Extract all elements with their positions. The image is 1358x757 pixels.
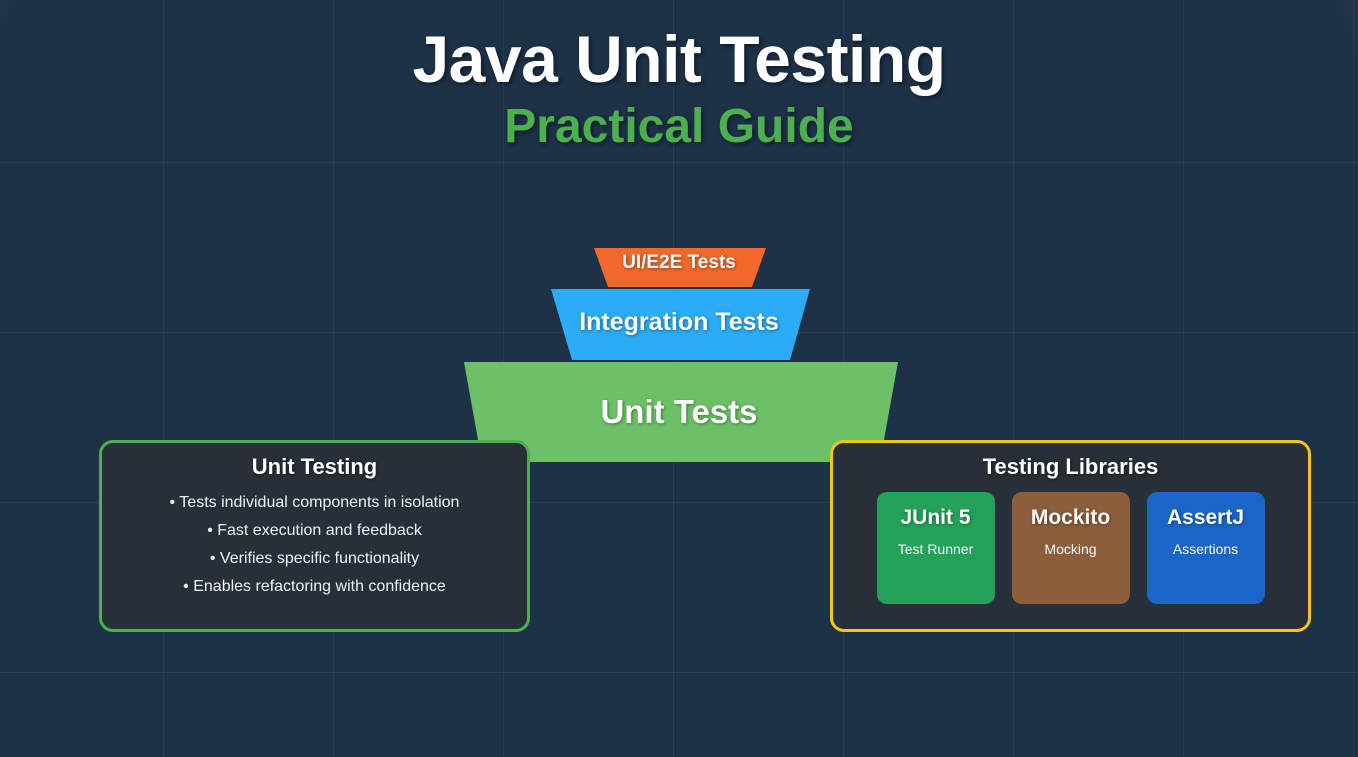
pyramid-layer-ui-e2e <box>594 248 766 287</box>
unit-testing-card-title: Unit Testing <box>102 454 527 480</box>
library-tile-role: Assertions <box>1173 541 1238 557</box>
library-tile-mockito[interactable]: MockitoMocking <box>1012 492 1130 604</box>
library-tile-role: Mocking <box>1044 541 1096 557</box>
pyramid-label-ui-e2e: UI/E2E Tests <box>0 252 1358 274</box>
pyramid-layer-integration <box>551 289 810 360</box>
unit-testing-bullet: • Enables refactoring with confidence <box>102 573 527 601</box>
unit-testing-bullet: • Fast execution and feedback <box>102 517 527 545</box>
slide-canvas: Java Unit Testing Practical Guide UI/E2E… <box>0 0 1358 757</box>
library-tile-assertj[interactable]: AssertJAssertions <box>1147 492 1265 604</box>
unit-testing-bullet: • Verifies specific functionality <box>102 545 527 573</box>
library-tile-name: JUnit 5 <box>900 506 970 530</box>
page-subtitle: Practical Guide <box>0 99 1358 156</box>
library-tile-name: Mockito <box>1031 506 1110 530</box>
library-tile-role: Test Runner <box>898 541 973 557</box>
library-tile-name: AssertJ <box>1167 506 1244 530</box>
pyramid-label-integration: Integration Tests <box>0 308 1358 337</box>
page-title: Java Unit Testing <box>0 24 1358 95</box>
testing-libraries-card: Testing Libraries JUnit 5Test RunnerMock… <box>830 440 1311 632</box>
library-tile-junit-5[interactable]: JUnit 5Test Runner <box>877 492 995 604</box>
title-block: Java Unit Testing Practical Guide <box>0 24 1358 156</box>
unit-testing-bullet: • Tests individual components in isolati… <box>102 489 527 517</box>
unit-testing-card: Unit Testing • Tests individual componen… <box>99 440 530 632</box>
library-tile-row: JUnit 5Test RunnerMockitoMockingAssertJA… <box>833 492 1308 604</box>
testing-libraries-card-title: Testing Libraries <box>833 454 1308 480</box>
pyramid-label-unit: Unit Tests <box>0 393 1358 431</box>
unit-testing-bullet-list: • Tests individual components in isolati… <box>102 489 527 601</box>
